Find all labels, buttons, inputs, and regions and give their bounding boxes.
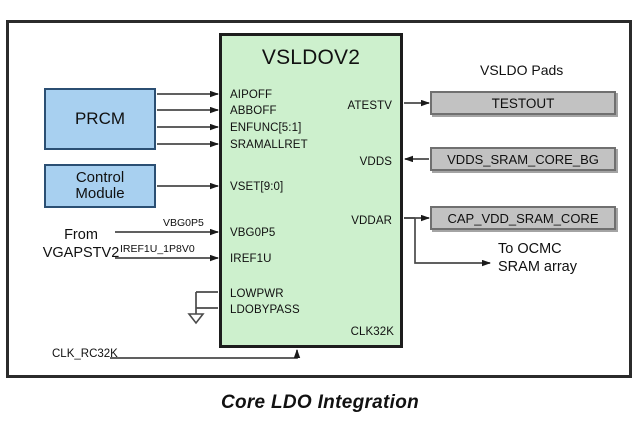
prcm-label: PRCM	[75, 110, 125, 128]
vsldo-pads-label: VSLDO Pads	[480, 62, 563, 80]
pad-cap-vdd-sram-core[interactable]: CAP_VDD_SRAM_CORE	[430, 206, 616, 230]
pin-iref1u[interactable]: IREF1U	[230, 253, 272, 265]
prcm-block[interactable]: PRCM	[44, 88, 156, 150]
from-vgapstv2-line1: From	[64, 227, 98, 243]
pin-ldobypass[interactable]: LDOBYPASS	[230, 304, 300, 316]
pin-vbg0p5[interactable]: VBG0P5	[230, 227, 275, 239]
pad-testout[interactable]: TESTOUT	[430, 91, 616, 115]
pad-vdds-sram-core-bg[interactable]: VDDS_SRAM_CORE_BG	[430, 147, 616, 171]
pin-atestv[interactable]: ATESTV	[348, 100, 392, 112]
diagram-caption: Core LDO Integration	[0, 392, 640, 414]
pin-enfunc[interactable]: ENFUNC[5:1]	[230, 122, 301, 134]
pin-vdds[interactable]: VDDS	[360, 156, 392, 168]
control-module-block[interactable]: Control Module	[44, 164, 156, 208]
pin-vset[interactable]: VSET[9:0]	[230, 181, 283, 193]
pin-vddar[interactable]: VDDAR	[351, 215, 392, 227]
pad-vdds-label: VDDS_SRAM_CORE_BG	[447, 152, 599, 167]
vsldov2-title: VSLDOV2	[222, 46, 400, 70]
pin-aipoff[interactable]: AIPOFF	[230, 89, 272, 101]
pin-sramallret[interactable]: SRAMALLRET	[230, 139, 308, 151]
control-module-label: Control Module	[75, 170, 124, 202]
wire-label-clk-rc32k: CLK_RC32K	[52, 348, 118, 360]
pad-testout-label: TESTOUT	[492, 96, 555, 111]
to-ocmc-line2: SRAM array	[498, 259, 577, 275]
vsldov2-block[interactable]: VSLDOV2 AIPOFF ABBOFF ENFUNC[5:1] SRAMAL…	[219, 33, 403, 348]
to-ocmc-label: To OCMC SRAM array	[498, 240, 577, 276]
control-module-label-line1: Control	[76, 169, 124, 186]
diagram-canvas: VSLDOV2 AIPOFF ABBOFF ENFUNC[5:1] SRAMAL…	[0, 0, 640, 436]
wire-label-vbg0p5: VBG0P5	[163, 217, 204, 229]
pin-clk32k[interactable]: CLK32K	[222, 326, 394, 338]
control-module-label-line2: Module	[75, 185, 124, 202]
from-vgapstv2-line2: VGAPSTV2	[43, 245, 120, 261]
to-ocmc-line1: To OCMC	[498, 241, 562, 257]
pad-capvdd-label: CAP_VDD_SRAM_CORE	[448, 211, 599, 226]
pin-abboff[interactable]: ABBOFF	[230, 105, 277, 117]
from-vgapstv2-label: From VGAPSTV2	[28, 226, 134, 262]
wire-label-iref1u-1p8v0: IREF1U_1P8V0	[120, 243, 195, 255]
pin-lowpwr[interactable]: LOWPWR	[230, 288, 284, 300]
